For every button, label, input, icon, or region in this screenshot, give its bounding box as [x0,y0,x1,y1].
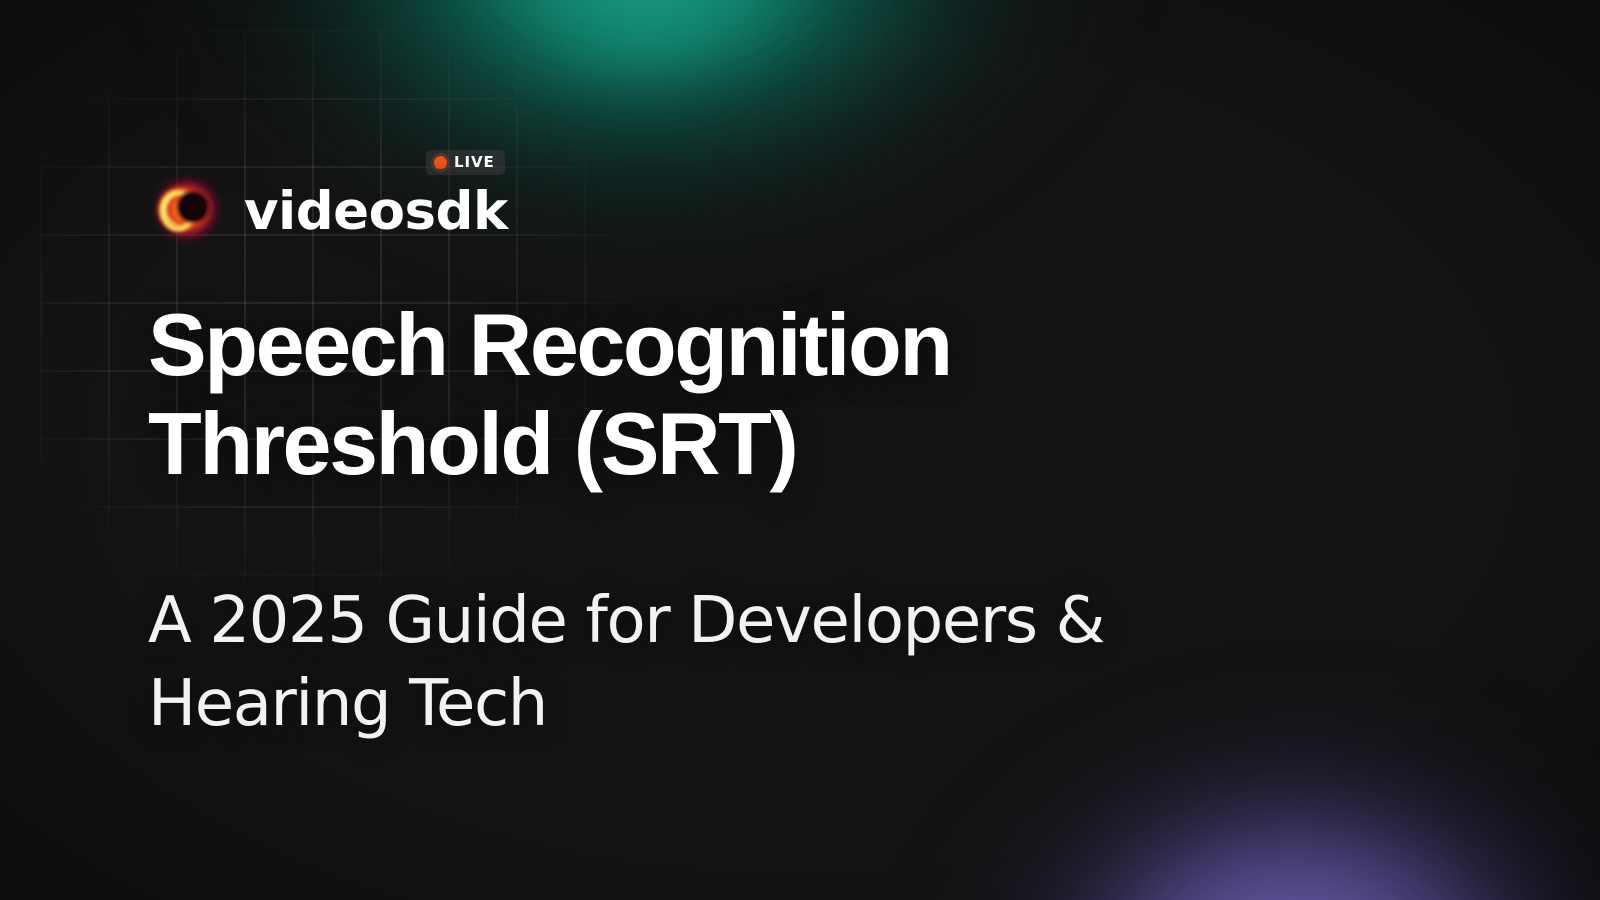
page-subtitle-line-2: Hearing Tech [148,663,1398,746]
brand-logo[interactable]: videosdk [148,170,508,248]
brand-wordmark: videosdk [244,185,508,238]
page-title-line-1: Speech Recognition [148,295,1328,394]
live-status-badge[interactable]: LIVE [426,150,505,175]
hero-slide: videosdk LIVE Speech Recognition Thresho… [0,0,1600,900]
page-title: Speech Recognition Threshold (SRT) [148,295,1328,494]
page-title-line-2: Threshold (SRT) [148,394,1328,493]
hero-content: videosdk LIVE Speech Recognition Thresho… [148,0,1448,900]
page-subtitle: A 2025 Guide for Developers & Hearing Te… [148,580,1398,746]
live-record-dot-icon [434,156,447,169]
page-subtitle-line-1: A 2025 Guide for Developers & [148,580,1398,663]
live-badge-label: LIVE [454,155,495,170]
eclipse-logo-icon [148,170,226,248]
